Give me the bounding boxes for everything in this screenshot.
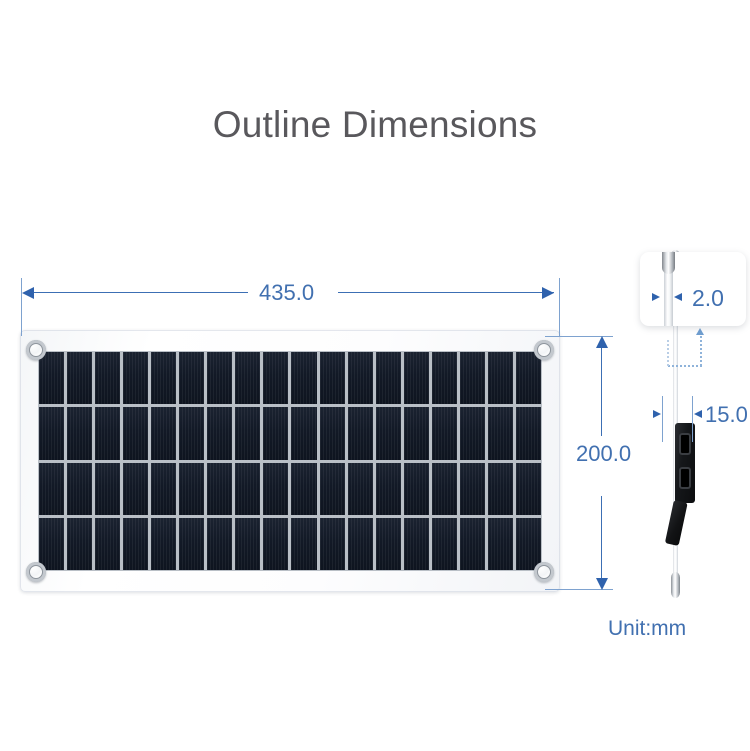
solar-cell <box>151 463 176 515</box>
solar-panel-figure <box>20 330 560 592</box>
callout-arrow-right-icon <box>652 293 660 301</box>
cable-tip-bottom <box>671 572 680 598</box>
solar-cell <box>516 407 541 459</box>
callout-arrow-left-icon <box>674 293 682 301</box>
solar-cell <box>123 352 148 404</box>
leader-line-horizontal <box>668 365 702 367</box>
solar-cell <box>404 463 429 515</box>
width-dimension-label: 435.0 <box>259 280 314 306</box>
solar-cell <box>179 352 204 404</box>
solar-cell <box>320 518 345 570</box>
solar-cell <box>151 518 176 570</box>
solar-cell <box>95 518 120 570</box>
solar-cell <box>404 407 429 459</box>
solar-cell <box>95 463 120 515</box>
solar-cell <box>263 518 288 570</box>
solar-cell <box>263 352 288 404</box>
solar-cell-grid <box>38 351 542 571</box>
solar-cell <box>207 407 232 459</box>
height-dimension-line-upper <box>601 344 602 436</box>
solar-cell <box>39 463 64 515</box>
leader-line-vertical <box>700 336 702 366</box>
connector-arrow-right-icon <box>653 410 661 418</box>
solar-cell <box>376 518 401 570</box>
width-extension-line-right <box>559 278 560 336</box>
solar-cell <box>320 463 345 515</box>
solar-cell <box>235 518 260 570</box>
grommet-top-right <box>534 340 554 360</box>
grommet-bottom-right <box>534 562 554 582</box>
connector-extension-line-left <box>662 396 663 442</box>
solar-cell <box>179 407 204 459</box>
width-arrow-left-icon <box>22 287 34 299</box>
solar-cell <box>67 352 92 404</box>
solar-cell <box>151 407 176 459</box>
leader-line-tick <box>667 340 669 366</box>
solar-cell <box>291 518 316 570</box>
solar-cell <box>95 352 120 404</box>
solar-cell <box>488 518 513 570</box>
solar-cell <box>488 407 513 459</box>
solar-cell <box>179 518 204 570</box>
connector-dimension-label: 15.0 <box>705 402 748 428</box>
solar-cell <box>151 352 176 404</box>
solar-cell <box>123 407 148 459</box>
leader-arrow-up-icon <box>696 328 704 335</box>
solar-cell <box>348 463 373 515</box>
solar-cell <box>291 463 316 515</box>
solar-cell <box>39 352 64 404</box>
connector-slot <box>679 433 691 455</box>
height-dimension-label: 200.0 <box>576 441 631 467</box>
solar-cell <box>432 352 457 404</box>
connector-arrow-left-icon <box>694 410 702 418</box>
solar-cell <box>95 407 120 459</box>
page-title: Outline Dimensions <box>0 104 750 146</box>
solar-cell <box>263 407 288 459</box>
solar-cell <box>460 352 485 404</box>
solar-cell <box>291 407 316 459</box>
unit-label: Unit:mm <box>608 617 686 641</box>
width-dimension-line-right <box>338 292 554 293</box>
solar-cell <box>123 518 148 570</box>
solar-cell <box>179 463 204 515</box>
solar-cell <box>516 463 541 515</box>
solar-cell <box>460 463 485 515</box>
solar-cell <box>460 407 485 459</box>
solar-cell <box>376 407 401 459</box>
solar-cell <box>235 463 260 515</box>
solar-cell <box>516 352 541 404</box>
solar-cell <box>320 352 345 404</box>
solar-cell <box>376 463 401 515</box>
solar-cell <box>404 518 429 570</box>
width-dimension-line-left <box>26 292 248 293</box>
solar-cell <box>207 352 232 404</box>
solar-cell <box>488 463 513 515</box>
solar-cell <box>207 463 232 515</box>
solar-cell <box>207 518 232 570</box>
solar-cell <box>348 352 373 404</box>
solar-cell <box>39 407 64 459</box>
solar-cell <box>432 518 457 570</box>
cable-thickness-callout: 2.0 <box>640 252 746 326</box>
grommet-top-left <box>26 340 46 360</box>
solar-cell <box>488 352 513 404</box>
callout-cable-tip <box>662 252 675 274</box>
solar-cell <box>348 407 373 459</box>
solar-cell <box>320 407 345 459</box>
grommet-bottom-left <box>26 562 46 582</box>
solar-cell <box>516 518 541 570</box>
height-dimension-line-lower <box>601 496 602 584</box>
width-arrow-right-icon <box>542 287 554 299</box>
solar-cell <box>67 463 92 515</box>
callout-dimension-label: 2.0 <box>692 285 724 312</box>
solar-cell <box>404 352 429 404</box>
solar-cell <box>460 518 485 570</box>
solar-cell <box>376 352 401 404</box>
solar-cell <box>67 518 92 570</box>
solar-cell <box>67 407 92 459</box>
solar-cell <box>263 463 288 515</box>
connector-slot <box>679 467 691 489</box>
solar-cell <box>291 352 316 404</box>
solar-cell <box>235 352 260 404</box>
solar-cell <box>432 407 457 459</box>
solar-cell <box>432 463 457 515</box>
height-arrow-up-icon <box>596 336 608 348</box>
solar-cell <box>235 407 260 459</box>
solar-cell <box>39 518 64 570</box>
solar-cell <box>348 518 373 570</box>
connector-tail <box>665 500 688 546</box>
height-arrow-down-icon <box>596 578 608 590</box>
solar-cell <box>123 463 148 515</box>
connector-extension-line-right <box>692 396 693 442</box>
